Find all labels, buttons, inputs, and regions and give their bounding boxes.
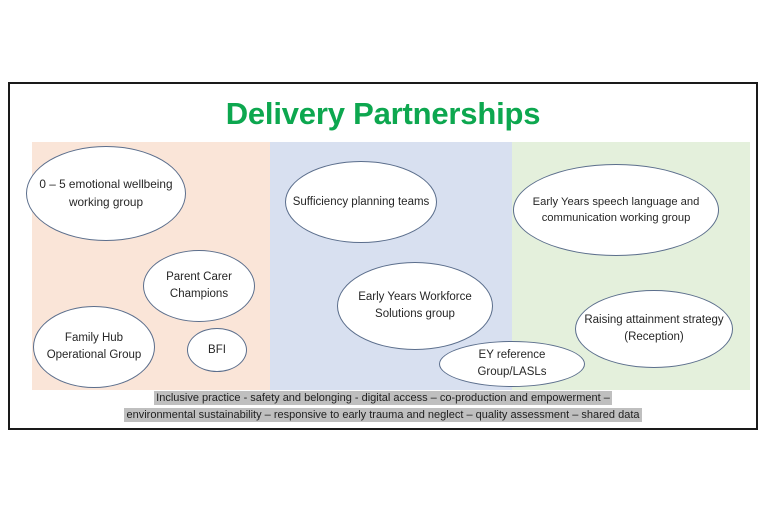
oval-emotional-wellbeing[interactable]: 0 – 5 emotional wellbeing working group <box>26 146 186 241</box>
footer-line-1: Inclusive practice - safety and belongin… <box>10 390 756 407</box>
oval-label: EY reference Group/LASLs <box>446 347 578 380</box>
oval-label: Raising attainment strategy (Reception) <box>582 312 726 345</box>
footer-principles: Inclusive practice - safety and belongin… <box>10 390 756 424</box>
footer-line-1-text: Inclusive practice - safety and belongin… <box>154 391 612 405</box>
oval-bfi[interactable]: BFI <box>187 328 247 372</box>
oval-speech-language-communication[interactable]: Early Years speech language and communic… <box>513 164 719 256</box>
oval-label: BFI <box>194 342 240 359</box>
oval-sufficiency-planning-teams[interactable]: Sufficiency planning teams <box>285 161 437 243</box>
oval-label: 0 – 5 emotional wellbeing working group <box>33 176 179 210</box>
oval-label: Early Years speech language and communic… <box>520 194 712 226</box>
oval-ey-reference-group[interactable]: EY reference Group/LASLs <box>439 341 585 387</box>
oval-ey-workforce-solutions[interactable]: Early Years Workforce Solutions group <box>337 262 493 350</box>
oval-label: Early Years Workforce Solutions group <box>344 289 486 322</box>
oval-label: Sufficiency planning teams <box>292 194 430 211</box>
footer-line-2: environmental sustainability – responsiv… <box>10 407 756 424</box>
footer-line-2-text: environmental sustainability – responsiv… <box>124 408 641 422</box>
oval-label: Parent Carer Champions <box>150 269 248 302</box>
diagram-frame: Delivery Partnerships 0 – 5 emotional we… <box>8 82 758 430</box>
oval-parent-carer[interactable]: Parent Carer Champions <box>143 250 255 322</box>
oval-label: Family Hub Operational Group <box>40 330 148 363</box>
oval-raising-attainment-strategy[interactable]: Raising attainment strategy (Reception) <box>575 290 733 368</box>
oval-family-hub[interactable]: Family Hub Operational Group <box>33 306 155 388</box>
slide-canvas: Delivery Partnerships 0 – 5 emotional we… <box>0 0 768 512</box>
page-title: Delivery Partnerships <box>10 96 756 132</box>
